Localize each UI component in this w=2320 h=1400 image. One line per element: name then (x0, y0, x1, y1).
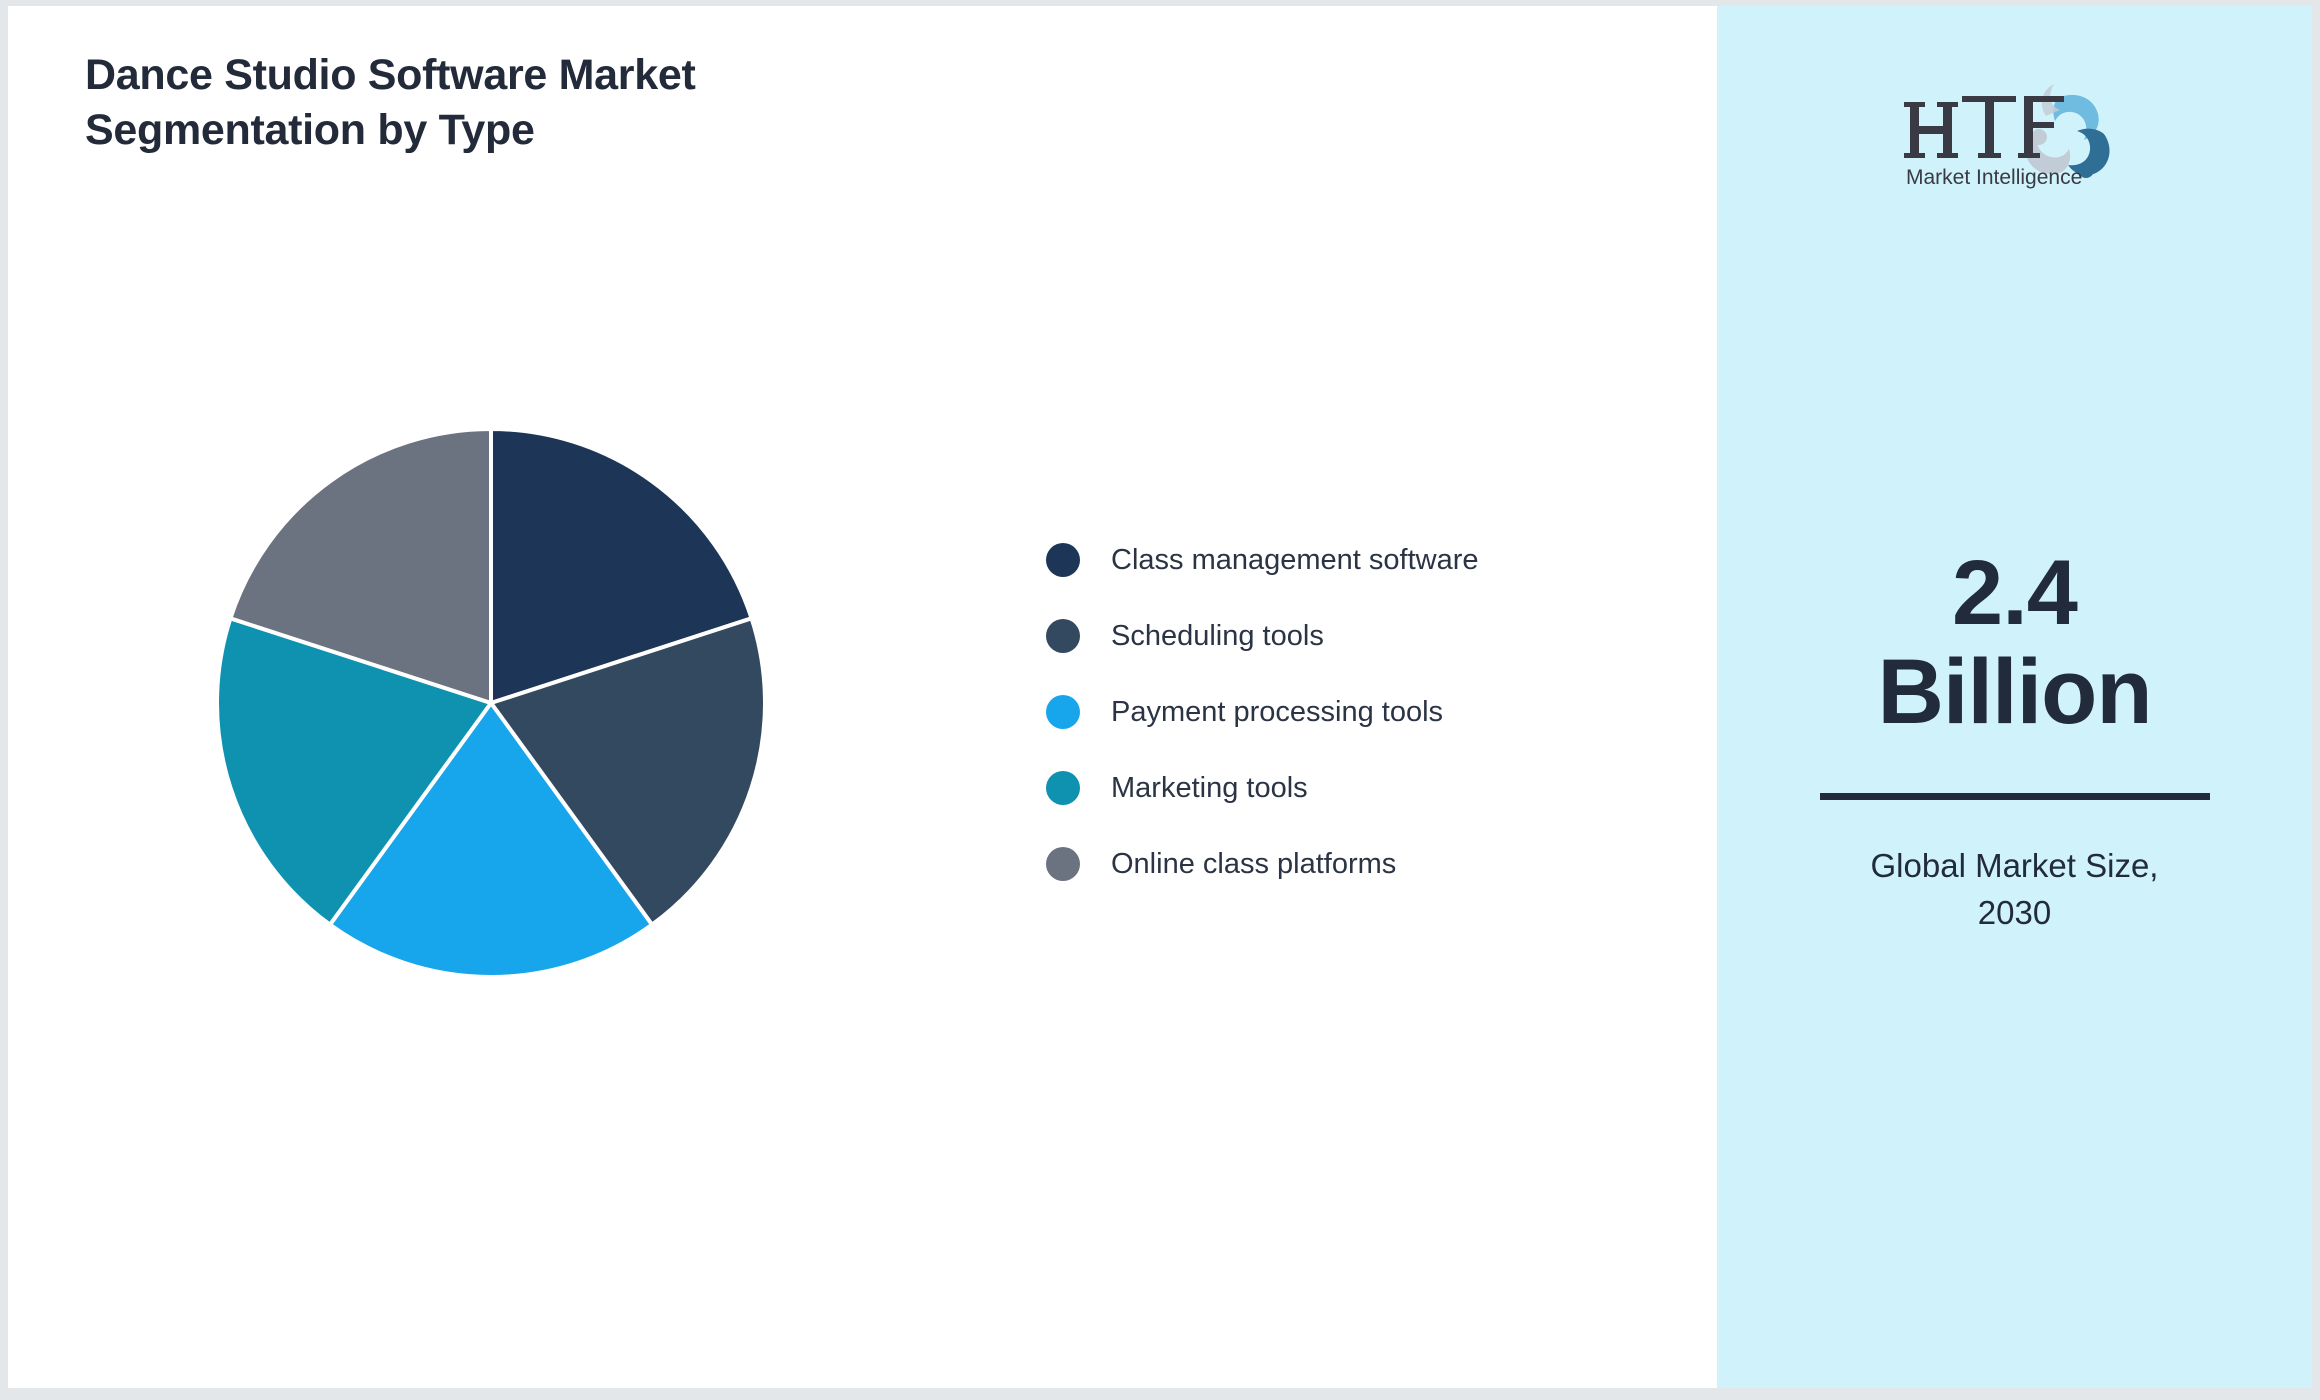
legend-label: Online class platforms (1111, 850, 1396, 879)
stat-block: 2.4 Billion Global Market Size, 2030 (1815, 544, 2215, 936)
htf-market-intelligence-logo: Market Intelligence (1890, 74, 2140, 192)
legend-label: Scheduling tools (1111, 622, 1324, 651)
infographic-card: Dance Studio Software Market Segmentatio… (8, 6, 2312, 1388)
stat-caption: Global Market Size, 2030 (1815, 843, 2215, 937)
legend-item[interactable]: Online class platforms (1046, 826, 1606, 902)
legend-swatch-payment-processing-tools (1046, 695, 1080, 729)
chart-panel: Dance Studio Software Market Segmentatio… (8, 6, 1717, 1388)
legend-item[interactable]: Payment processing tools (1046, 674, 1606, 750)
legend-item[interactable]: Scheduling tools (1046, 598, 1606, 674)
legend-swatch-class-management-software (1046, 543, 1080, 577)
stat-panel: Market Intelligence 2.4 Billion Global M… (1717, 6, 2312, 1388)
chart-legend: Class management software Scheduling too… (1046, 522, 1606, 902)
htf-logo-svg: Market Intelligence (1890, 74, 2140, 192)
stat-value: 2.4 Billion (1815, 544, 2215, 743)
stat-divider (1820, 793, 2210, 800)
pie-chart (215, 427, 767, 979)
htf-wordmark (1904, 96, 2064, 158)
legend-swatch-scheduling-tools (1046, 619, 1080, 653)
infographic-root: Dance Studio Software Market Segmentatio… (0, 0, 2320, 1400)
legend-item[interactable]: Class management software (1046, 522, 1606, 598)
pie-slices (217, 429, 765, 977)
htf-tagline: Market Intelligence (1906, 166, 2082, 189)
page-title: Dance Studio Software Market Segmentatio… (85, 48, 1085, 158)
pie-chart-svg (215, 427, 767, 979)
legend-label: Marketing tools (1111, 774, 1308, 803)
legend-label: Payment processing tools (1111, 698, 1443, 727)
legend-swatch-online-class-platforms (1046, 847, 1080, 881)
legend-swatch-marketing-tools (1046, 771, 1080, 805)
legend-item[interactable]: Marketing tools (1046, 750, 1606, 826)
legend-label: Class management software (1111, 546, 1479, 575)
